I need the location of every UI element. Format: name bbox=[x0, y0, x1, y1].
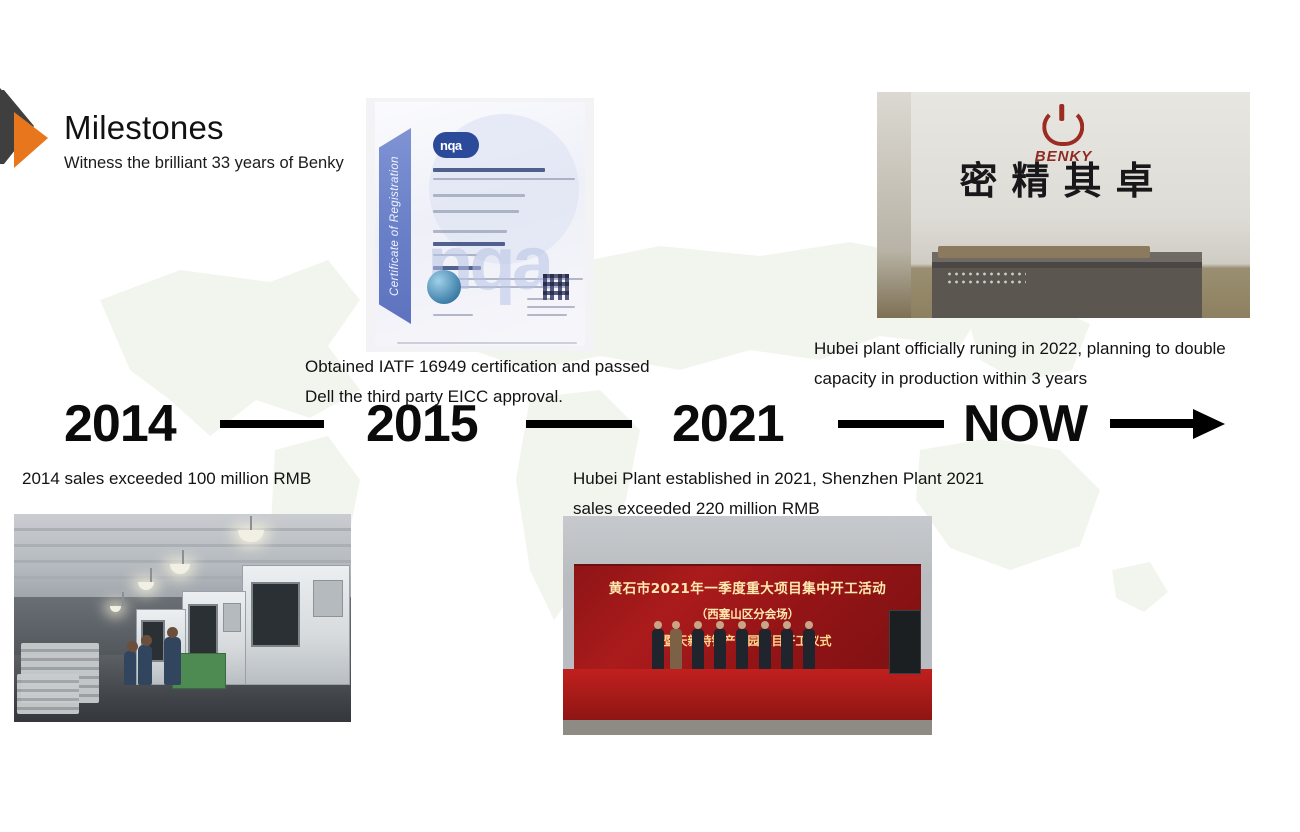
timeline-connector bbox=[526, 420, 632, 428]
ceremony-banner-line-2: （西塞山区分会场） bbox=[696, 606, 800, 622]
ceremony-attendee bbox=[781, 629, 793, 669]
timeline-year-2015: 2015 bbox=[366, 398, 478, 450]
caption-2015: Obtained IATF 16949 certification and pa… bbox=[305, 352, 655, 412]
ceremony-ground bbox=[563, 720, 932, 735]
caption-now: Hubei plant officially runing in 2022, p… bbox=[814, 334, 1250, 394]
cnc-machine bbox=[242, 565, 350, 685]
reception-side-wall bbox=[877, 92, 911, 318]
caption-2021: Hubei Plant established in 2021, Shenzhe… bbox=[573, 464, 1023, 524]
groundbreaking-ceremony-image: 黄石市2021年一季度重大项目集中开工活动 （西塞山区分会场） 暨天新特钢产业园… bbox=[563, 516, 932, 735]
reception-wall-slogan: 密精其卓 bbox=[959, 150, 1167, 205]
nqa-logo-text: nqa bbox=[440, 138, 462, 153]
nqa-logo-icon: nqa bbox=[433, 132, 479, 158]
header-title-block: Milestones Witness the brilliant 33 year… bbox=[64, 108, 404, 175]
ceremony-attendee bbox=[714, 629, 726, 669]
ceremony-attendee bbox=[652, 629, 664, 669]
factory-worker bbox=[164, 637, 181, 685]
slide-canvas: Milestones Witness the brilliant 33 year… bbox=[0, 0, 1300, 832]
factory-workshop-image bbox=[14, 514, 351, 722]
timeline-label-now: NOW bbox=[963, 398, 1087, 450]
timeline-year-2014: 2014 bbox=[64, 398, 176, 450]
globe-icon bbox=[427, 270, 461, 304]
stacked-parts bbox=[17, 674, 79, 714]
reception-lobby-image: BENKY 密精其卓 bbox=[877, 92, 1250, 318]
right-arrow-icon bbox=[1193, 409, 1225, 439]
reception-desk-detail bbox=[946, 270, 1026, 288]
certificate-paper: nqa nqa Certificate of Registration bbox=[375, 102, 585, 346]
timeline-connector bbox=[838, 420, 944, 428]
ceremony-attendee bbox=[736, 629, 748, 669]
qr-code-icon bbox=[543, 274, 569, 300]
ceremony-attendee bbox=[692, 629, 704, 669]
ceremony-stage bbox=[563, 669, 932, 722]
timeline-connector bbox=[220, 420, 324, 428]
certificate-side-band: Certificate of Registration bbox=[379, 128, 411, 324]
ceremony-attendee bbox=[670, 629, 682, 669]
certificate-image: nqa nqa Certificate of Registration bbox=[366, 98, 594, 352]
factory-worker bbox=[138, 645, 152, 685]
caption-2014: 2014 sales exceeded 100 million RMB bbox=[22, 464, 322, 494]
page-title: Milestones bbox=[64, 108, 404, 148]
factory-worker bbox=[124, 651, 136, 685]
benky-power-icon bbox=[1042, 108, 1084, 146]
ceremony-attendee bbox=[759, 629, 771, 669]
reception-desk bbox=[932, 252, 1202, 318]
certificate-band-text: Certificate of Registration bbox=[389, 156, 401, 296]
timeline-year-2021: 2021 bbox=[672, 398, 784, 450]
benky-arrow-logo-icon bbox=[0, 88, 52, 184]
ceremony-attendee bbox=[803, 629, 815, 669]
timeline-arrow-shaft bbox=[1110, 419, 1196, 428]
ceremony-banner-line-1: 黄石市2021年一季度重大项目集中开工活动 bbox=[609, 577, 887, 597]
stage-speaker bbox=[889, 610, 921, 674]
page-subtitle: Witness the brilliant 33 years of Benky bbox=[64, 151, 404, 175]
